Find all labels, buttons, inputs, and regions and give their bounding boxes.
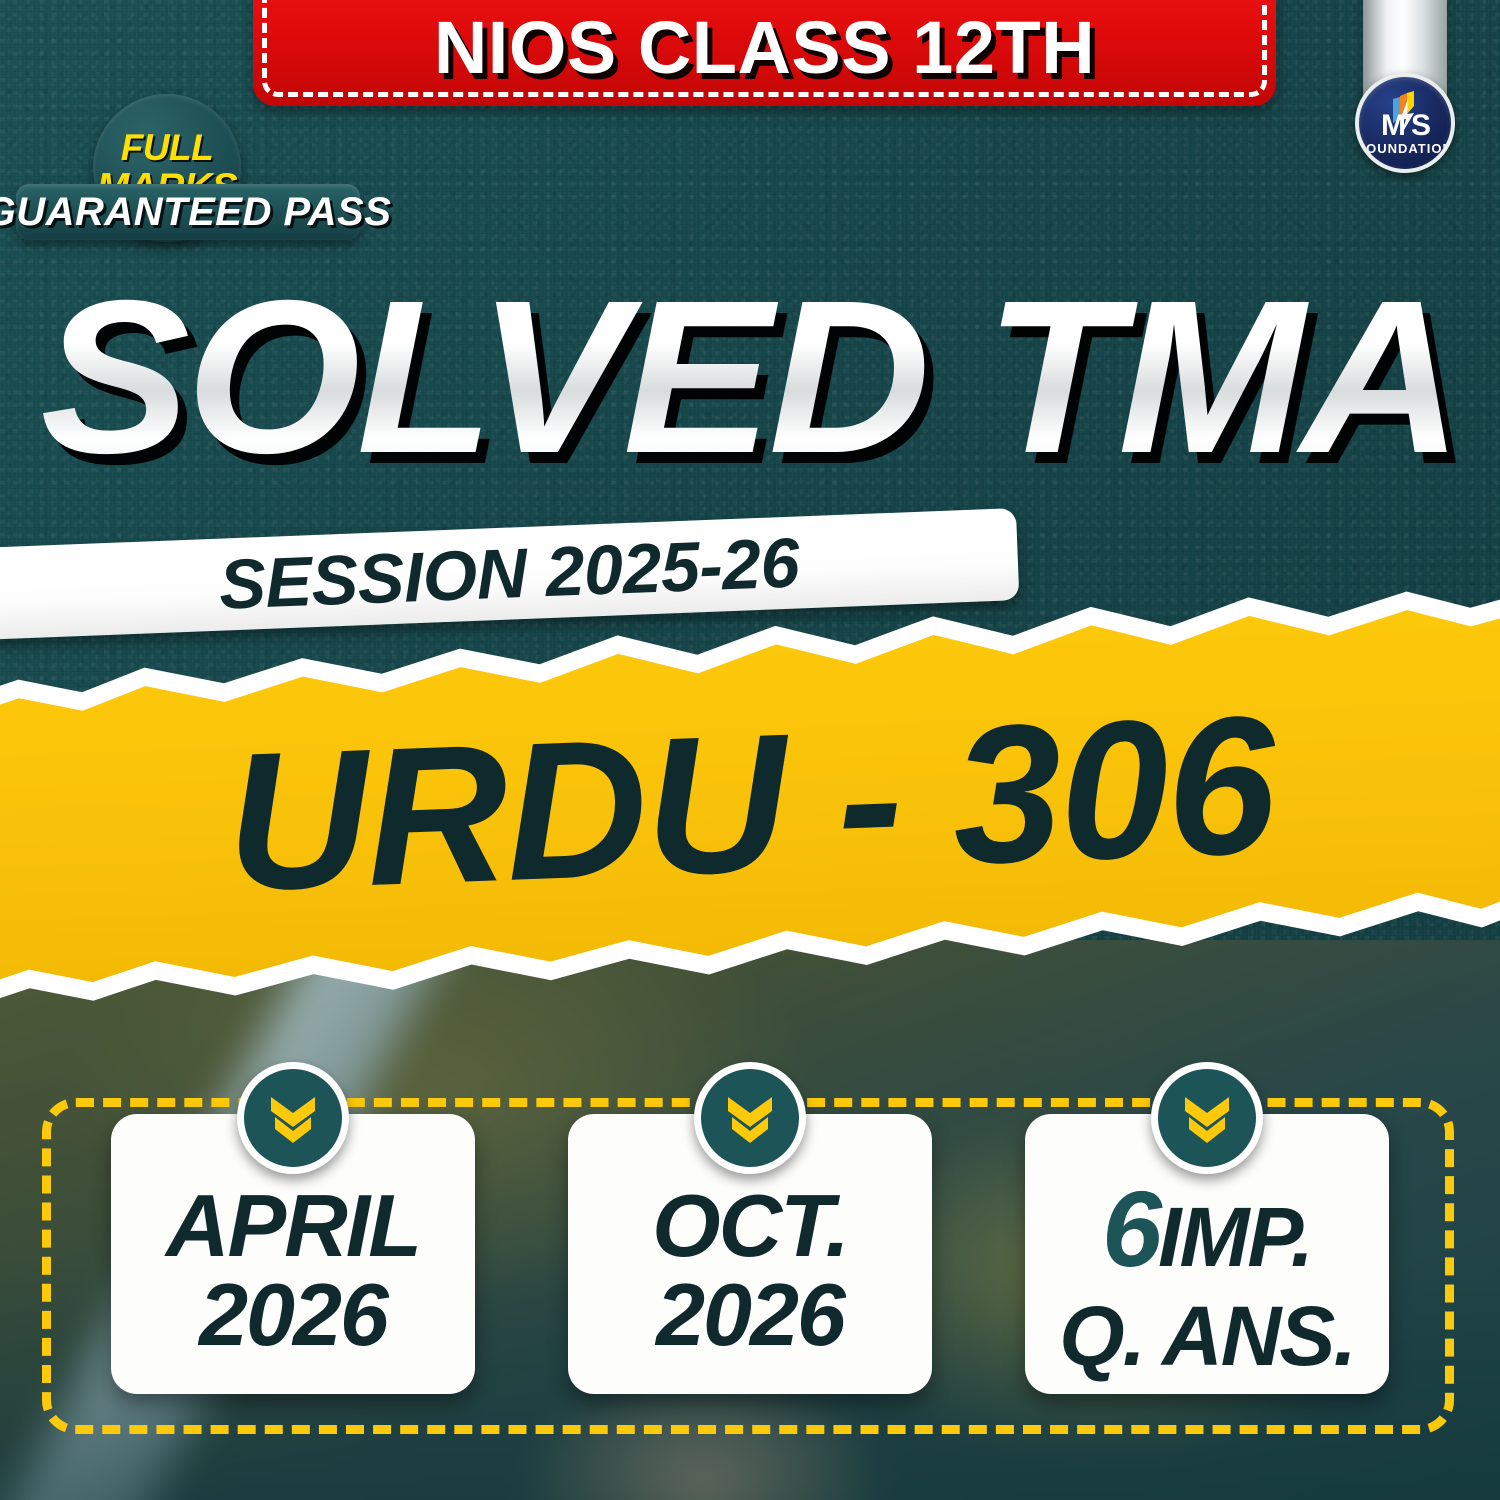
card-line1-row: 6 IMP. bbox=[1102, 1166, 1312, 1291]
double-chevron-down-icon bbox=[237, 1062, 349, 1174]
double-chevron-down-icon bbox=[694, 1062, 806, 1174]
mvs-logo-icon: M S FOUNDATION bbox=[1359, 77, 1451, 169]
class-banner-label: NIOS CLASS 12TH bbox=[253, 5, 1276, 90]
guaranteed-pass-label: GUARANTEED PASS bbox=[0, 190, 391, 235]
poster-canvas: NIOS CLASS 12TH M S FOUNDATION FULL MARK… bbox=[0, 0, 1500, 1500]
main-title-container: SOLVED TMA bbox=[0, 250, 1500, 505]
main-title: SOLVED TMA bbox=[41, 269, 1459, 487]
session-label: SESSION 2025-26 bbox=[218, 522, 801, 624]
card-line2: 2026 bbox=[656, 1274, 844, 1357]
full-marks-line1: FULL bbox=[121, 130, 214, 165]
card-line1: APRIL bbox=[166, 1185, 420, 1268]
subject-torn-band: URDU - 306 bbox=[0, 583, 1500, 1013]
card-line1: IMP. bbox=[1158, 1198, 1312, 1277]
svg-text:FOUNDATION: FOUNDATION bbox=[1359, 141, 1451, 156]
mvs-foundation-logo: M S FOUNDATION bbox=[1355, 73, 1455, 173]
card-oct-2026[interactable]: OCT. 2026 bbox=[550, 1062, 950, 1394]
svg-text:S: S bbox=[1411, 109, 1431, 142]
card-line2: 2026 bbox=[199, 1274, 387, 1357]
card-count: 6 bbox=[1102, 1166, 1158, 1291]
card-line2: Q. ANS. bbox=[1059, 1297, 1355, 1376]
class-banner: NIOS CLASS 12TH bbox=[253, 0, 1276, 106]
guaranteed-pass-badge: GUARANTEED PASS bbox=[16, 184, 360, 240]
svg-text:M: M bbox=[1381, 109, 1406, 142]
card-april-2026[interactable]: APRIL 2026 bbox=[93, 1062, 493, 1394]
card-important-questions[interactable]: 6 IMP. Q. ANS. bbox=[1007, 1062, 1407, 1394]
double-chevron-down-icon bbox=[1151, 1062, 1263, 1174]
feature-cards: APRIL 2026 OCT. 2026 bbox=[0, 1062, 1500, 1462]
card-line1: OCT. bbox=[652, 1185, 848, 1268]
